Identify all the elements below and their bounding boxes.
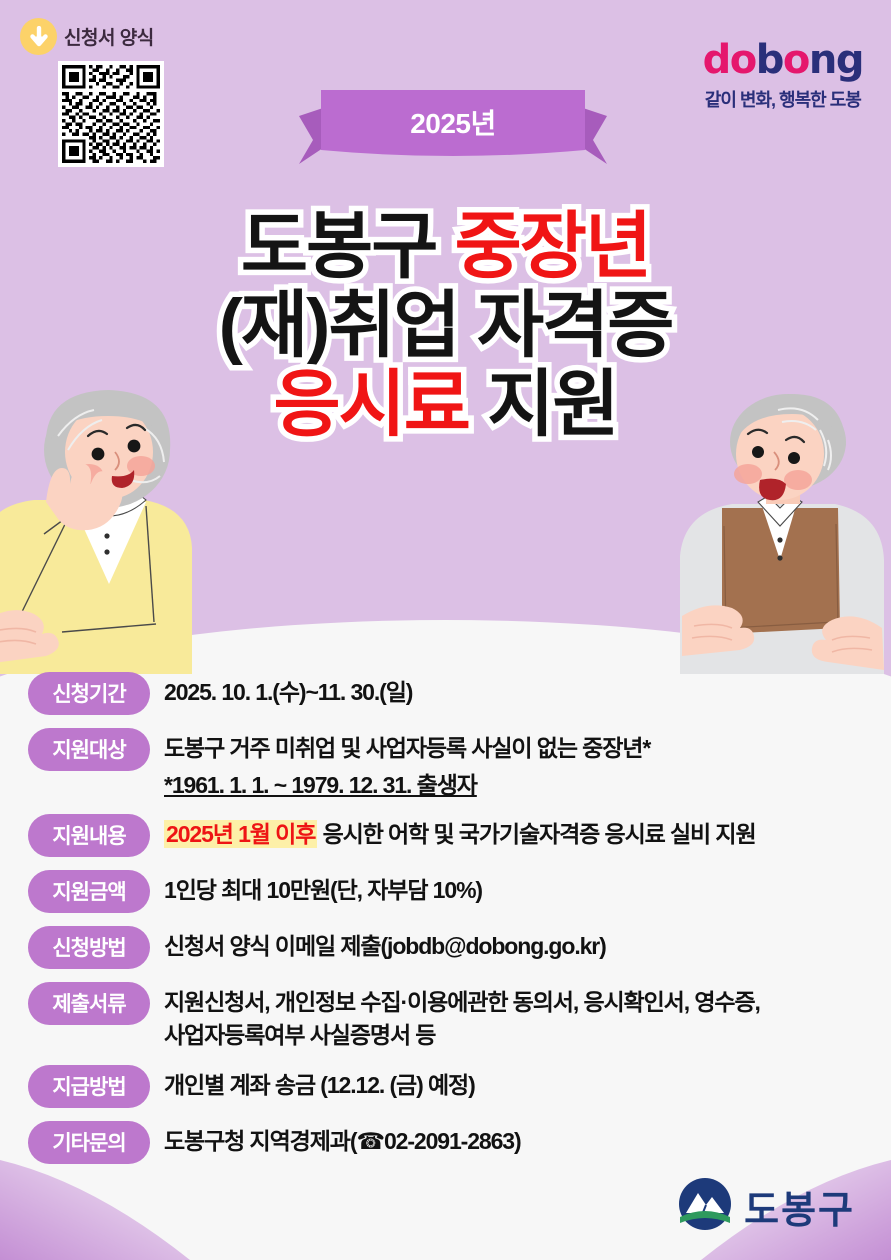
row-value-how-to-apply: 신청서 양식 이메일 제출(jobdb@dobong.go.kr) xyxy=(164,926,606,963)
value-line: 2025년 1월 이후 응시한 어학 및 국가기술자격증 응시료 실비 지원 xyxy=(164,818,756,851)
row-label-how-to-apply: 신청방법 xyxy=(28,926,150,969)
row-label-application-period: 신청기간 xyxy=(28,672,150,715)
poster-canvas: 신청서 양식 xyxy=(0,0,891,1260)
detail-row-eligibility: 지원대상 도봉구 거주 미취업 및 사업자등록 사실이 없는 중장년* *196… xyxy=(28,728,873,801)
details-list: 신청기간 2025. 10. 1.(수)~11. 30.(일) 지원대상 도봉구… xyxy=(28,672,873,1177)
year-ribbon: 2025년 xyxy=(299,86,607,172)
title-line3-red: 응시료 xyxy=(273,364,468,445)
row-label-required-documents: 제출서류 xyxy=(28,982,150,1025)
detail-row-inquiries: 기타문의 도봉구청 지역경제과(☎02-2091-2863) xyxy=(28,1121,873,1164)
row-value-support-amount: 1인당 최대 10만원(단, 자부담 10%) xyxy=(164,870,482,907)
row-value-application-period: 2025. 10. 1.(수)~11. 30.(일) xyxy=(164,672,412,709)
mountain-emblem-icon xyxy=(678,1177,732,1236)
value-line: 2025. 10. 1.(수)~11. 30.(일) xyxy=(164,676,412,709)
row-label-payment-method: 지급방법 xyxy=(28,1065,150,1108)
wordmark-n: n xyxy=(809,37,836,83)
dobong-gu-footer-logo: 도봉구 xyxy=(678,1177,855,1236)
wordmark-b: b xyxy=(756,37,783,83)
title-line-1: 도봉구 중장년 xyxy=(0,208,891,287)
title-line-2: (재)취업 자격증 xyxy=(0,287,891,366)
wordmark-o1: o xyxy=(730,37,756,83)
row-value-inquiries: 도봉구청 지역경제과(☎02-2091-2863) xyxy=(164,1121,521,1158)
row-label-eligibility: 지원대상 xyxy=(28,728,150,771)
dobong-wordmark: dobong xyxy=(703,40,863,80)
qr-label: 신청서 양식 xyxy=(64,23,154,50)
detail-row-support-content: 지원내용 2025년 1월 이후 응시한 어학 및 국가기술자격증 응시료 실비… xyxy=(28,814,873,857)
value-line: 개인별 계좌 송금 (12.12. (금) 예정) xyxy=(164,1069,475,1102)
row-value-support-content: 2025년 1월 이후 응시한 어학 및 국가기술자격증 응시료 실비 지원 xyxy=(164,814,756,851)
row-value-required-documents: 지원신청서, 개인정보 수집·이용에관한 동의서, 응시확인서, 영수증, 사업… xyxy=(164,982,760,1051)
value-line: 지원신청서, 개인정보 수집·이용에관한 동의서, 응시확인서, 영수증, xyxy=(164,986,760,1019)
title-line1-red: 중장년 xyxy=(455,206,650,287)
value-line: 1인당 최대 10만원(단, 자부담 10%) xyxy=(164,874,482,907)
value-line-birthdate-note: *1961. 1. 1. ~ 1979. 12. 31. 출생자 xyxy=(164,769,650,802)
detail-row-application-period: 신청기간 2025. 10. 1.(수)~11. 30.(일) xyxy=(28,672,873,715)
value-line-2: 사업자등록여부 사실증명서 등 xyxy=(164,1019,760,1052)
highlighted-date-range: 2025년 1월 이후 xyxy=(164,820,317,848)
detail-row-required-documents: 제출서류 지원신청서, 개인정보 수집·이용에관한 동의서, 응시확인서, 영수… xyxy=(28,982,873,1051)
application-form-qr-block[interactable]: 신청서 양식 xyxy=(20,18,164,167)
page-title: 도봉구 중장년 (재)취업 자격증 응시료 지원 xyxy=(0,208,891,444)
dobong-tagline: 같이 변화, 행복한 도봉 xyxy=(703,86,863,112)
value-line-rest: 응시한 어학 및 국가기술자격증 응시료 실비 지원 xyxy=(317,821,755,847)
row-value-payment-method: 개인별 계좌 송금 (12.12. (금) 예정) xyxy=(164,1065,475,1102)
detail-row-support-amount: 지원금액 1인당 최대 10만원(단, 자부담 10%) xyxy=(28,870,873,913)
value-line: 도봉구 거주 미취업 및 사업자등록 사실이 없는 중장년* xyxy=(164,732,650,765)
value-line-phone[interactable]: 도봉구청 지역경제과(☎02-2091-2863) xyxy=(164,1125,521,1158)
title-line-3: 응시료 지원 xyxy=(0,366,891,445)
row-label-inquiries: 기타문의 xyxy=(28,1121,150,1164)
qr-code-image[interactable] xyxy=(58,61,164,167)
value-line-email[interactable]: 신청서 양식 이메일 제출(jobdb@dobong.go.kr) xyxy=(164,930,606,963)
dobong-gu-label: 도봉구 xyxy=(744,1179,855,1234)
dobong-brand-logo: dobong 같이 변화, 행복한 도봉 xyxy=(703,40,863,112)
title-line3-black: 지원 xyxy=(469,364,618,445)
down-arrow-icon xyxy=(20,18,57,55)
detail-row-payment-method: 지급방법 개인별 계좌 송금 (12.12. (금) 예정) xyxy=(28,1065,873,1108)
ribbon-year-text: 2025년 xyxy=(299,86,607,172)
detail-row-how-to-apply: 신청방법 신청서 양식 이메일 제출(jobdb@dobong.go.kr) xyxy=(28,926,873,969)
wordmark-g: g xyxy=(836,37,863,83)
row-label-support-content: 지원내용 xyxy=(28,814,150,857)
wordmark-d: d xyxy=(703,37,730,83)
row-label-support-amount: 지원금액 xyxy=(28,870,150,913)
row-value-eligibility: 도봉구 거주 미취업 및 사업자등록 사실이 없는 중장년* *1961. 1.… xyxy=(164,728,650,801)
qr-heading: 신청서 양식 xyxy=(20,18,164,55)
title-line1-black: 도봉구 xyxy=(241,206,455,287)
wordmark-o2: o xyxy=(783,37,809,83)
